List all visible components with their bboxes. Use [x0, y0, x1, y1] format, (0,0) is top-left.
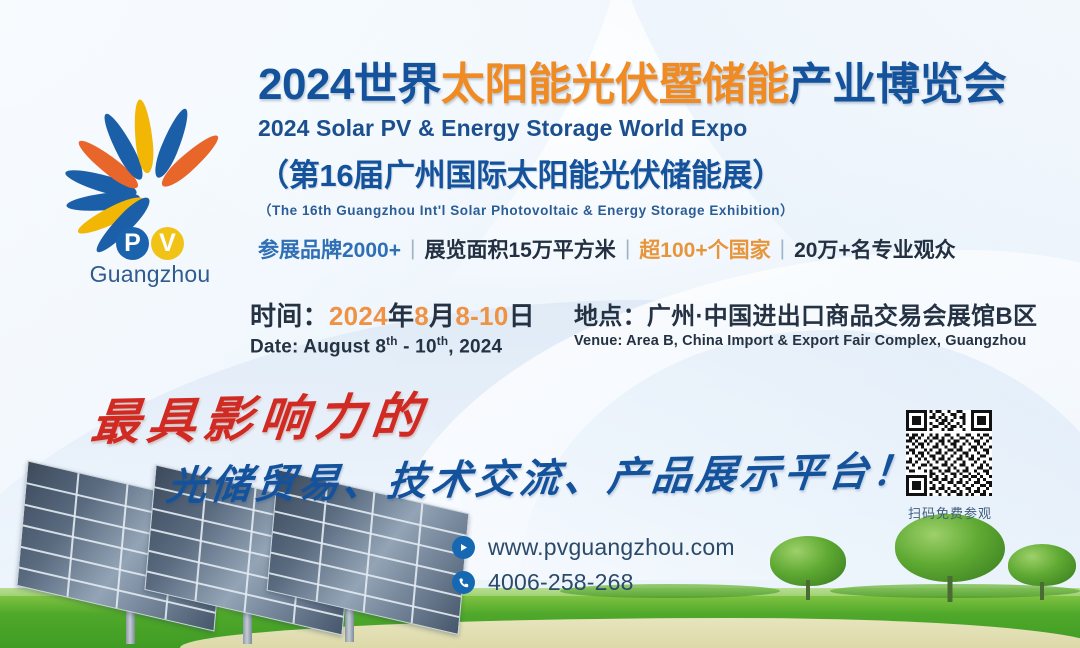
title-segment-blue-1: 2024世界 — [258, 60, 441, 109]
date-month-unit: 月 — [429, 301, 455, 331]
website-row[interactable]: www.pvguangzhou.com — [452, 534, 735, 561]
header-block: 2024世界太阳能光伏暨储能产业博览会 2024 Solar PV & Ener… — [258, 62, 1058, 264]
stat-visitors: 20万+名专业观众 — [794, 234, 956, 264]
phone-text[interactable]: 4006-258-268 — [488, 569, 634, 596]
venue-block: 地点：广州·中国进出口商品交易会展馆B区 Venue: Area B, Chin… — [574, 296, 1037, 358]
date-month: 8 — [414, 301, 429, 331]
tree-crown — [895, 514, 1005, 582]
qr-code-image[interactable] — [906, 410, 992, 496]
play-icon — [452, 536, 475, 559]
subtitle-chinese: （第16届广州国际太阳能光伏储能展） — [258, 150, 1058, 195]
date-block: 时间：2024年8月8-10日 Date: August 8th - 10th,… — [250, 296, 550, 358]
stats-row: 参展品牌2000+ | 展览面积15万平方米 | 超100+个国家 | 20万+… — [258, 234, 1058, 264]
tree-crown — [1008, 544, 1076, 586]
panel-post — [345, 608, 354, 642]
date-en-mid: - 10 — [398, 336, 437, 357]
slogan-line-1: 最具影响力的 — [88, 376, 432, 454]
stat-separator: | — [780, 237, 785, 261]
tree-trunk — [948, 576, 953, 602]
date-venue-block: 时间：2024年8月8-10日 Date: August 8th - 10th,… — [250, 296, 1060, 358]
tree-trunk — [806, 580, 810, 600]
tree — [770, 536, 846, 600]
expo-poster: P V Guangzhou 2024世界太阳能光伏暨储能产业博览会 2024 S… — [0, 0, 1080, 648]
tree — [895, 514, 1005, 602]
page-title: 2024世界太阳能光伏暨储能产业博览会 — [258, 62, 1058, 108]
date-day-unit: 日 — [509, 301, 535, 331]
date-label: 时间： — [250, 301, 329, 331]
date-en-sup-1: th — [386, 335, 398, 348]
date-year: 2024 — [329, 301, 388, 331]
subtitle-english: （The 16th Guangzhou Int'l Solar Photovol… — [258, 199, 1058, 219]
logo-city-label: Guangzhou — [90, 261, 211, 288]
venue-line-english: Venue: Area B, China Import & Export Fai… — [574, 333, 1037, 349]
title-segment-blue-2: 产业博览会 — [789, 60, 1007, 109]
tree-crown — [770, 536, 846, 586]
phone-row[interactable]: 4006-258-268 — [452, 569, 735, 596]
date-line-chinese: 时间：2024年8月8-10日 — [250, 296, 550, 333]
qr-caption: 扫码免费参观 — [906, 503, 994, 522]
tree — [1008, 544, 1076, 600]
stat-separator: | — [410, 237, 415, 261]
title-segment-orange: 太阳能光伏暨储能 — [441, 60, 789, 109]
stat-countries: 超100+个国家 — [639, 234, 770, 264]
date-en-prefix: Date: August 8 — [250, 336, 386, 357]
logo-letter-v: V — [151, 227, 184, 260]
date-en-sup-2: th — [437, 335, 449, 348]
venue-line-chinese: 地点：广州·中国进出口商品交易会展馆B区 — [574, 296, 1037, 331]
date-year-unit: 年 — [388, 301, 414, 331]
stat-separator: | — [625, 237, 630, 261]
title-english: 2024 Solar PV & Energy Storage World Exp… — [258, 115, 1058, 142]
date-days: 8-10 — [455, 301, 508, 331]
phone-icon — [452, 571, 475, 594]
stat-brands: 参展品牌2000+ — [258, 234, 401, 264]
pv-guangzhou-logo: P V Guangzhou — [52, 104, 248, 290]
logo-pv-letters: P V — [116, 227, 184, 260]
stat-area: 展览面积15万平方米 — [424, 234, 615, 264]
contact-block: www.pvguangzhou.com 4006-258-268 — [452, 534, 735, 604]
logo-letter-p: P — [116, 227, 149, 260]
date-en-suffix: , 2024 — [448, 336, 502, 357]
qr-block: 扫码免费参观 — [906, 410, 994, 522]
date-line-english: Date: August 8th - 10th, 2024 — [250, 335, 550, 358]
website-text[interactable]: www.pvguangzhou.com — [488, 534, 735, 561]
tree-trunk — [1040, 582, 1044, 600]
